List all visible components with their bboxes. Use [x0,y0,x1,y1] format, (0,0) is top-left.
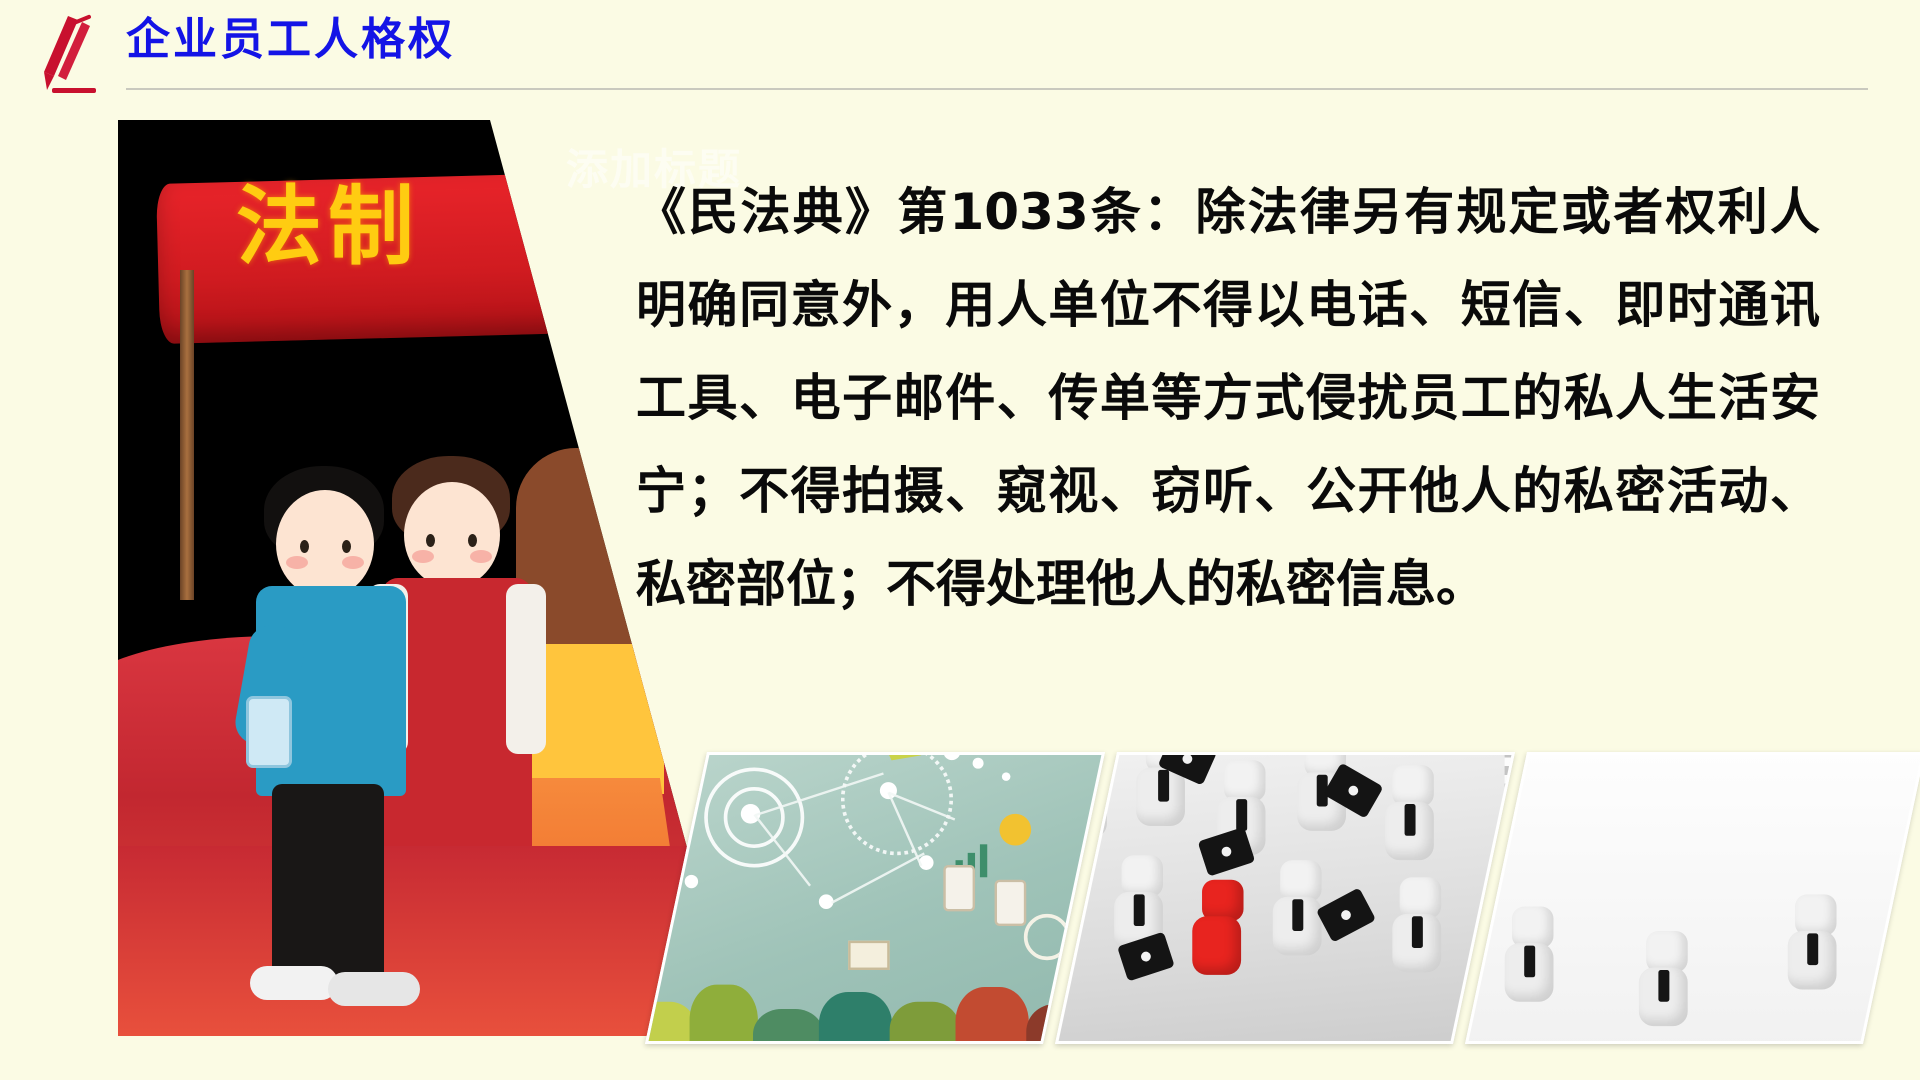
title-divider [126,88,1868,90]
figure-boy-with-phone [236,466,426,1026]
slide-canvas: 企业员工人格权 法制 [0,0,1920,1080]
slide-header: 企业员工人格权 [0,0,1920,96]
pencil-icon [38,14,100,94]
network-infographic-tile [645,752,1105,1044]
page-title: 企业员工人格权 [126,18,455,62]
banner-label: 法制 [236,156,420,281]
business-crowd-tile [1055,752,1515,1044]
banner-pole [180,270,194,600]
photo-strip [630,752,1900,1058]
phone-icon [246,696,292,768]
growth-arrow-tile [1465,752,1920,1044]
law-article-paragraph: 《民法典》第1033条：除法律另有规定或者权利人明确同意外，用人单位不得以电话、… [636,166,1820,631]
